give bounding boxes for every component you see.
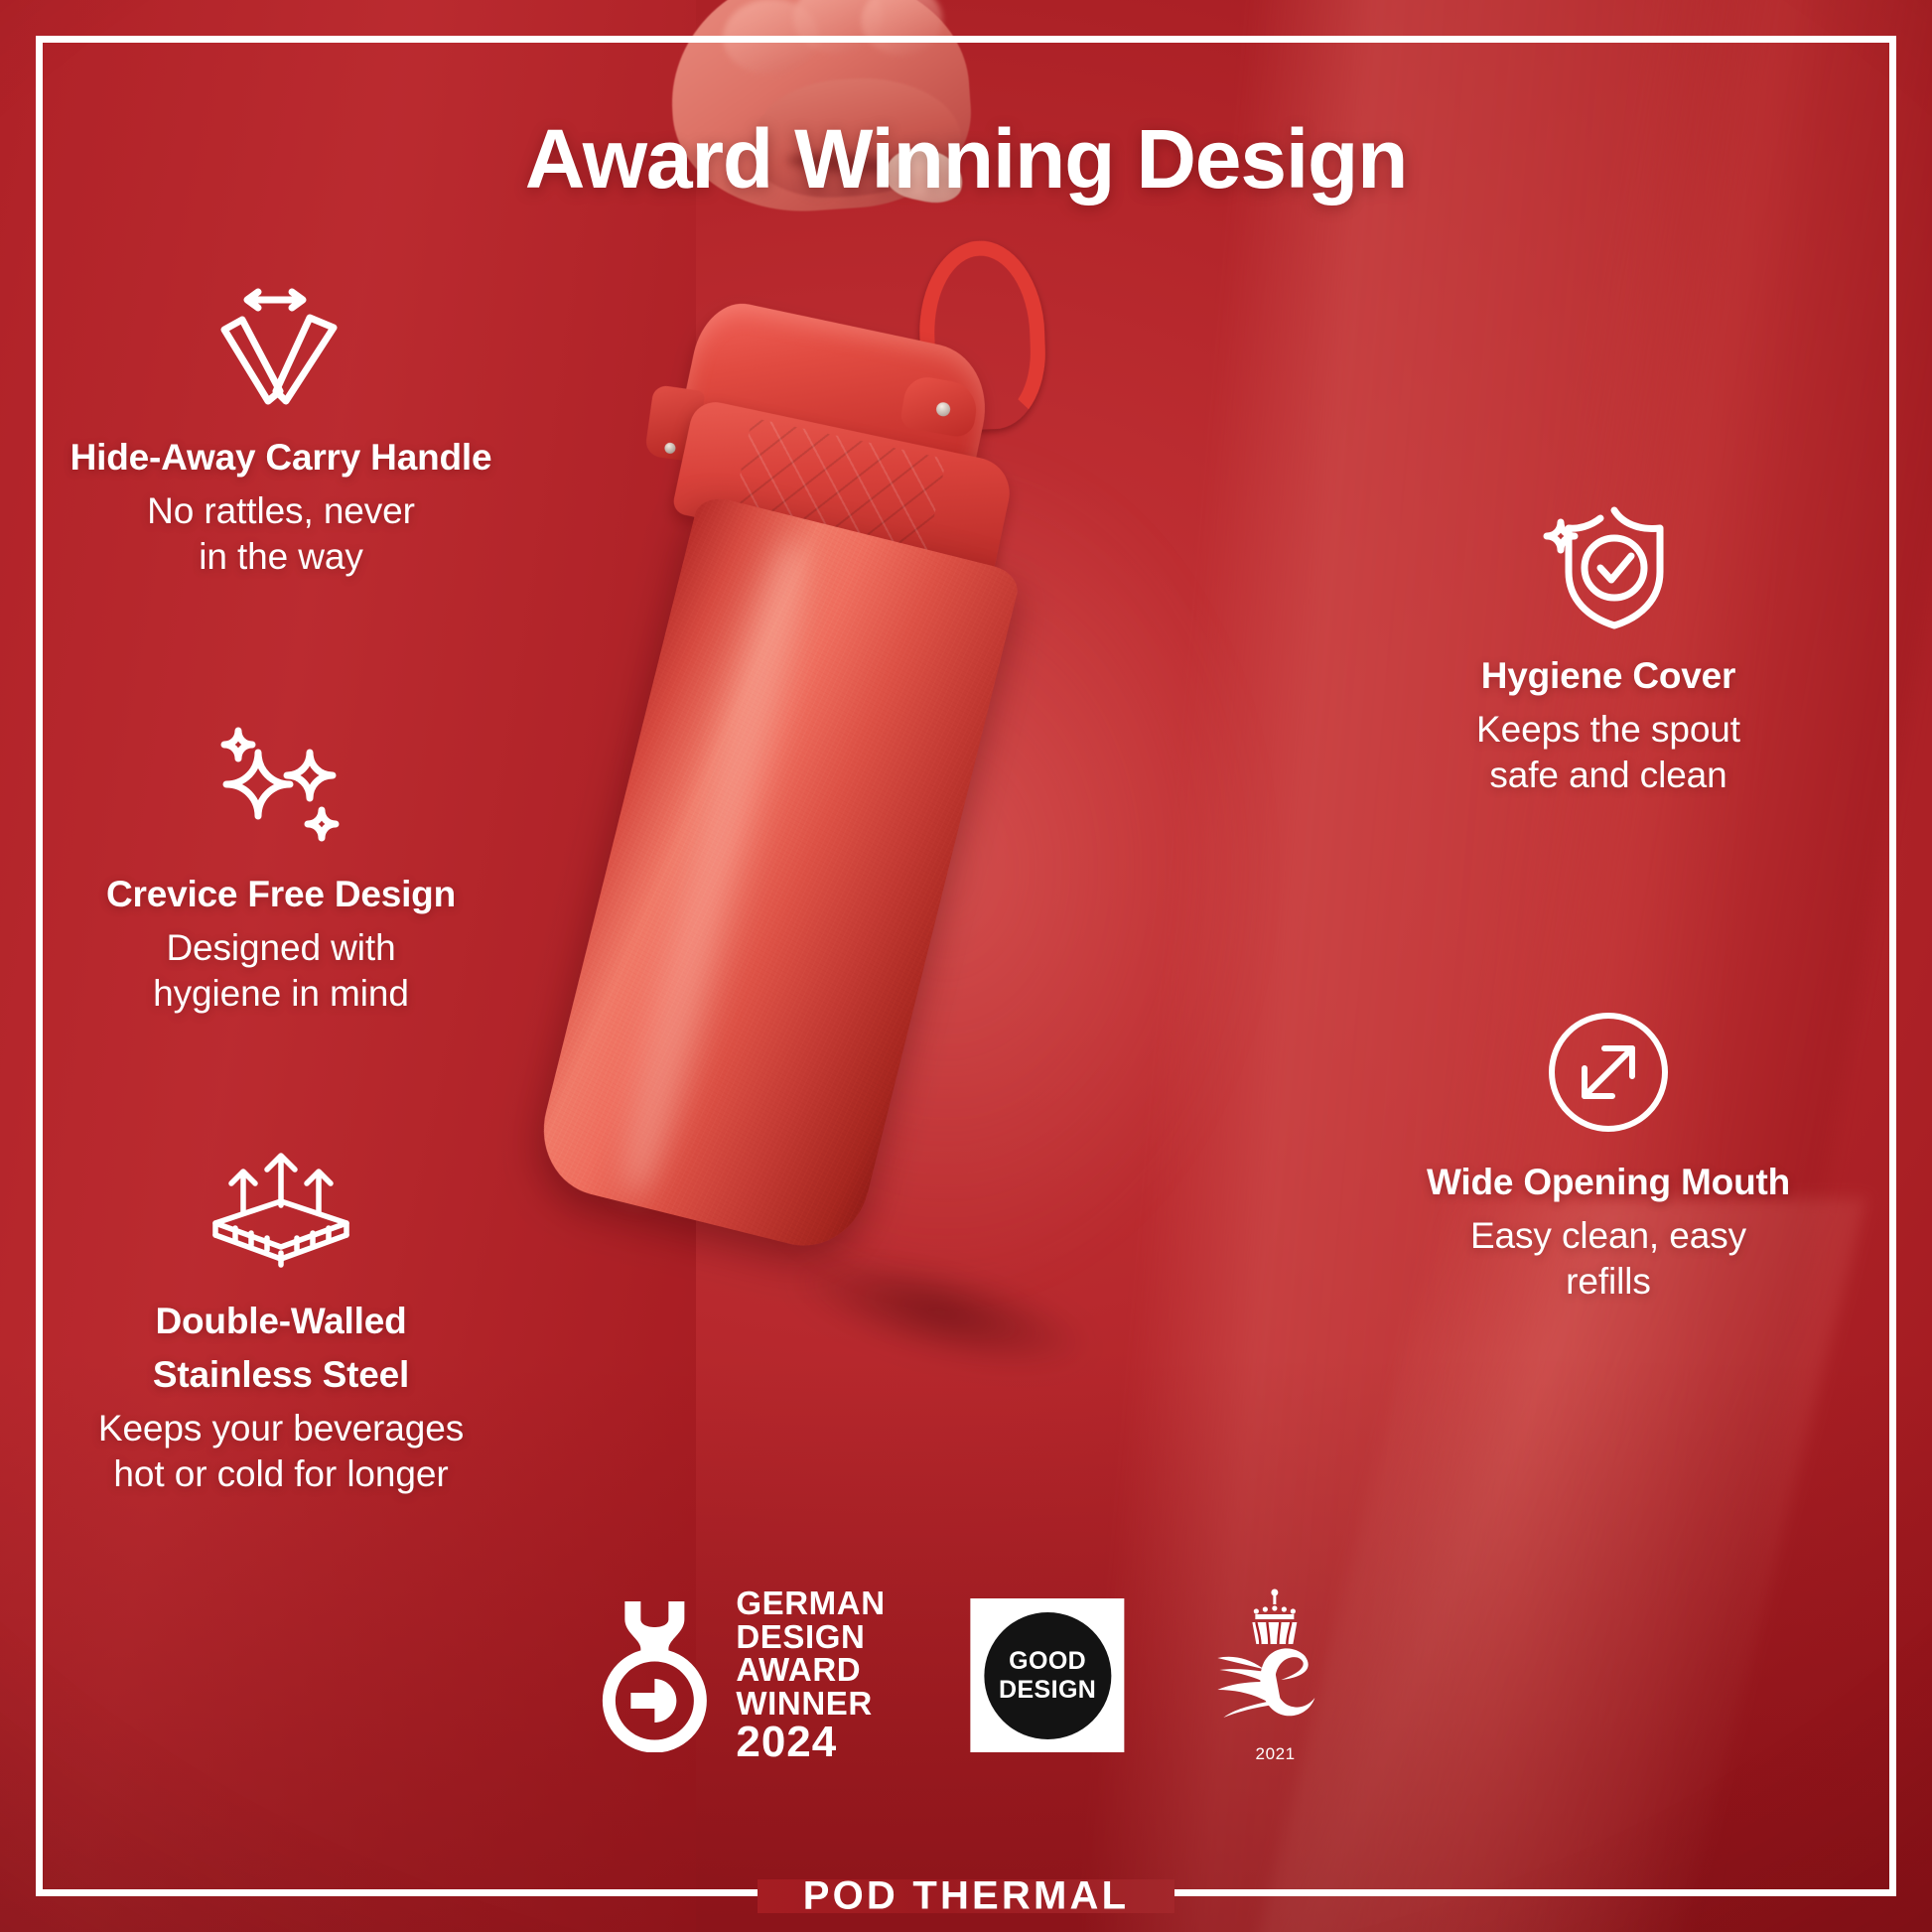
badge-german-design-award: GERMAN DESIGN AWARD WINNER 2024: [591, 1587, 885, 1765]
feature-title: Hide-Away Carry Handle: [48, 435, 514, 481]
layers-insulation-icon: [48, 1142, 514, 1277]
feature-desc-line1: No rattles, never: [48, 488, 514, 535]
gda-line2: DESIGN: [736, 1620, 885, 1654]
brand-name: POD THERMAL: [803, 1874, 1130, 1919]
gda-line4: WINNER: [736, 1687, 885, 1721]
feature-desc-line2: hygiene in mind: [48, 971, 514, 1018]
feature-hide-away-carry-handle: Hide-Away Carry Handle No rattles, never…: [48, 278, 514, 581]
good-design-line2: DESIGN: [999, 1676, 1096, 1705]
product-infographic: Award Winning Design Hide-Away Carry Han…: [0, 0, 1932, 1932]
feature-wide-opening-mouth: Wide Opening Mouth Easy clean, easy refi…: [1375, 1003, 1842, 1306]
feature-hygiene-cover: Hygiene Cover Keeps the spout safe and c…: [1375, 496, 1842, 799]
feature-desc-line2: refills: [1375, 1259, 1842, 1306]
carry-handle-icon: [48, 278, 514, 413]
feature-desc-line1: Keeps the spout: [1375, 707, 1842, 754]
german-design-award-medal-icon: [591, 1593, 718, 1757]
feature-title: Wide Opening Mouth: [1375, 1160, 1842, 1205]
feature-desc-line2: hot or cold for longer: [48, 1451, 514, 1498]
expand-arrows-icon: [1375, 1003, 1842, 1138]
feature-title: Crevice Free Design: [48, 872, 514, 917]
feature-desc-line1: Easy clean, easy: [1375, 1213, 1842, 1260]
gda-year: 2024: [736, 1721, 885, 1765]
badge-queens-award: 2021: [1210, 1587, 1341, 1764]
gda-line1: GERMAN: [736, 1587, 885, 1620]
feature-title: Hygiene Cover: [1375, 653, 1842, 699]
german-design-award-text: GERMAN DESIGN AWARD WINNER 2024: [736, 1587, 885, 1765]
good-design-circle: GOOD DESIGN: [984, 1612, 1111, 1739]
feature-crevice-free-design: Crevice Free Design Designed with hygien…: [48, 715, 514, 1018]
feature-desc-line1: Keeps your beverages: [48, 1406, 514, 1452]
badge-good-design: GOOD DESIGN: [971, 1598, 1125, 1752]
feature-title-line2: Stainless Steel: [48, 1352, 514, 1398]
good-design-line1: GOOD: [1009, 1647, 1086, 1676]
feature-desc-line2: in the way: [48, 534, 514, 581]
queens-award-winged-e-icon: [1210, 1587, 1341, 1740]
page-title: Award Winning Design: [0, 111, 1932, 207]
feature-title-line1: Double-Walled: [48, 1299, 514, 1344]
shield-check-icon: [1375, 496, 1842, 631]
sparkles-icon: [48, 715, 514, 850]
feature-double-walled-stainless-steel: Double-Walled Stainless Steel Keeps your…: [48, 1142, 514, 1498]
feature-desc-line1: Designed with: [48, 925, 514, 972]
feature-desc-line2: safe and clean: [1375, 753, 1842, 799]
award-badges: GERMAN DESIGN AWARD WINNER 2024 GOOD DES…: [591, 1587, 1340, 1765]
gda-line3: AWARD: [736, 1653, 885, 1687]
queens-award-year: 2021: [1256, 1744, 1296, 1764]
